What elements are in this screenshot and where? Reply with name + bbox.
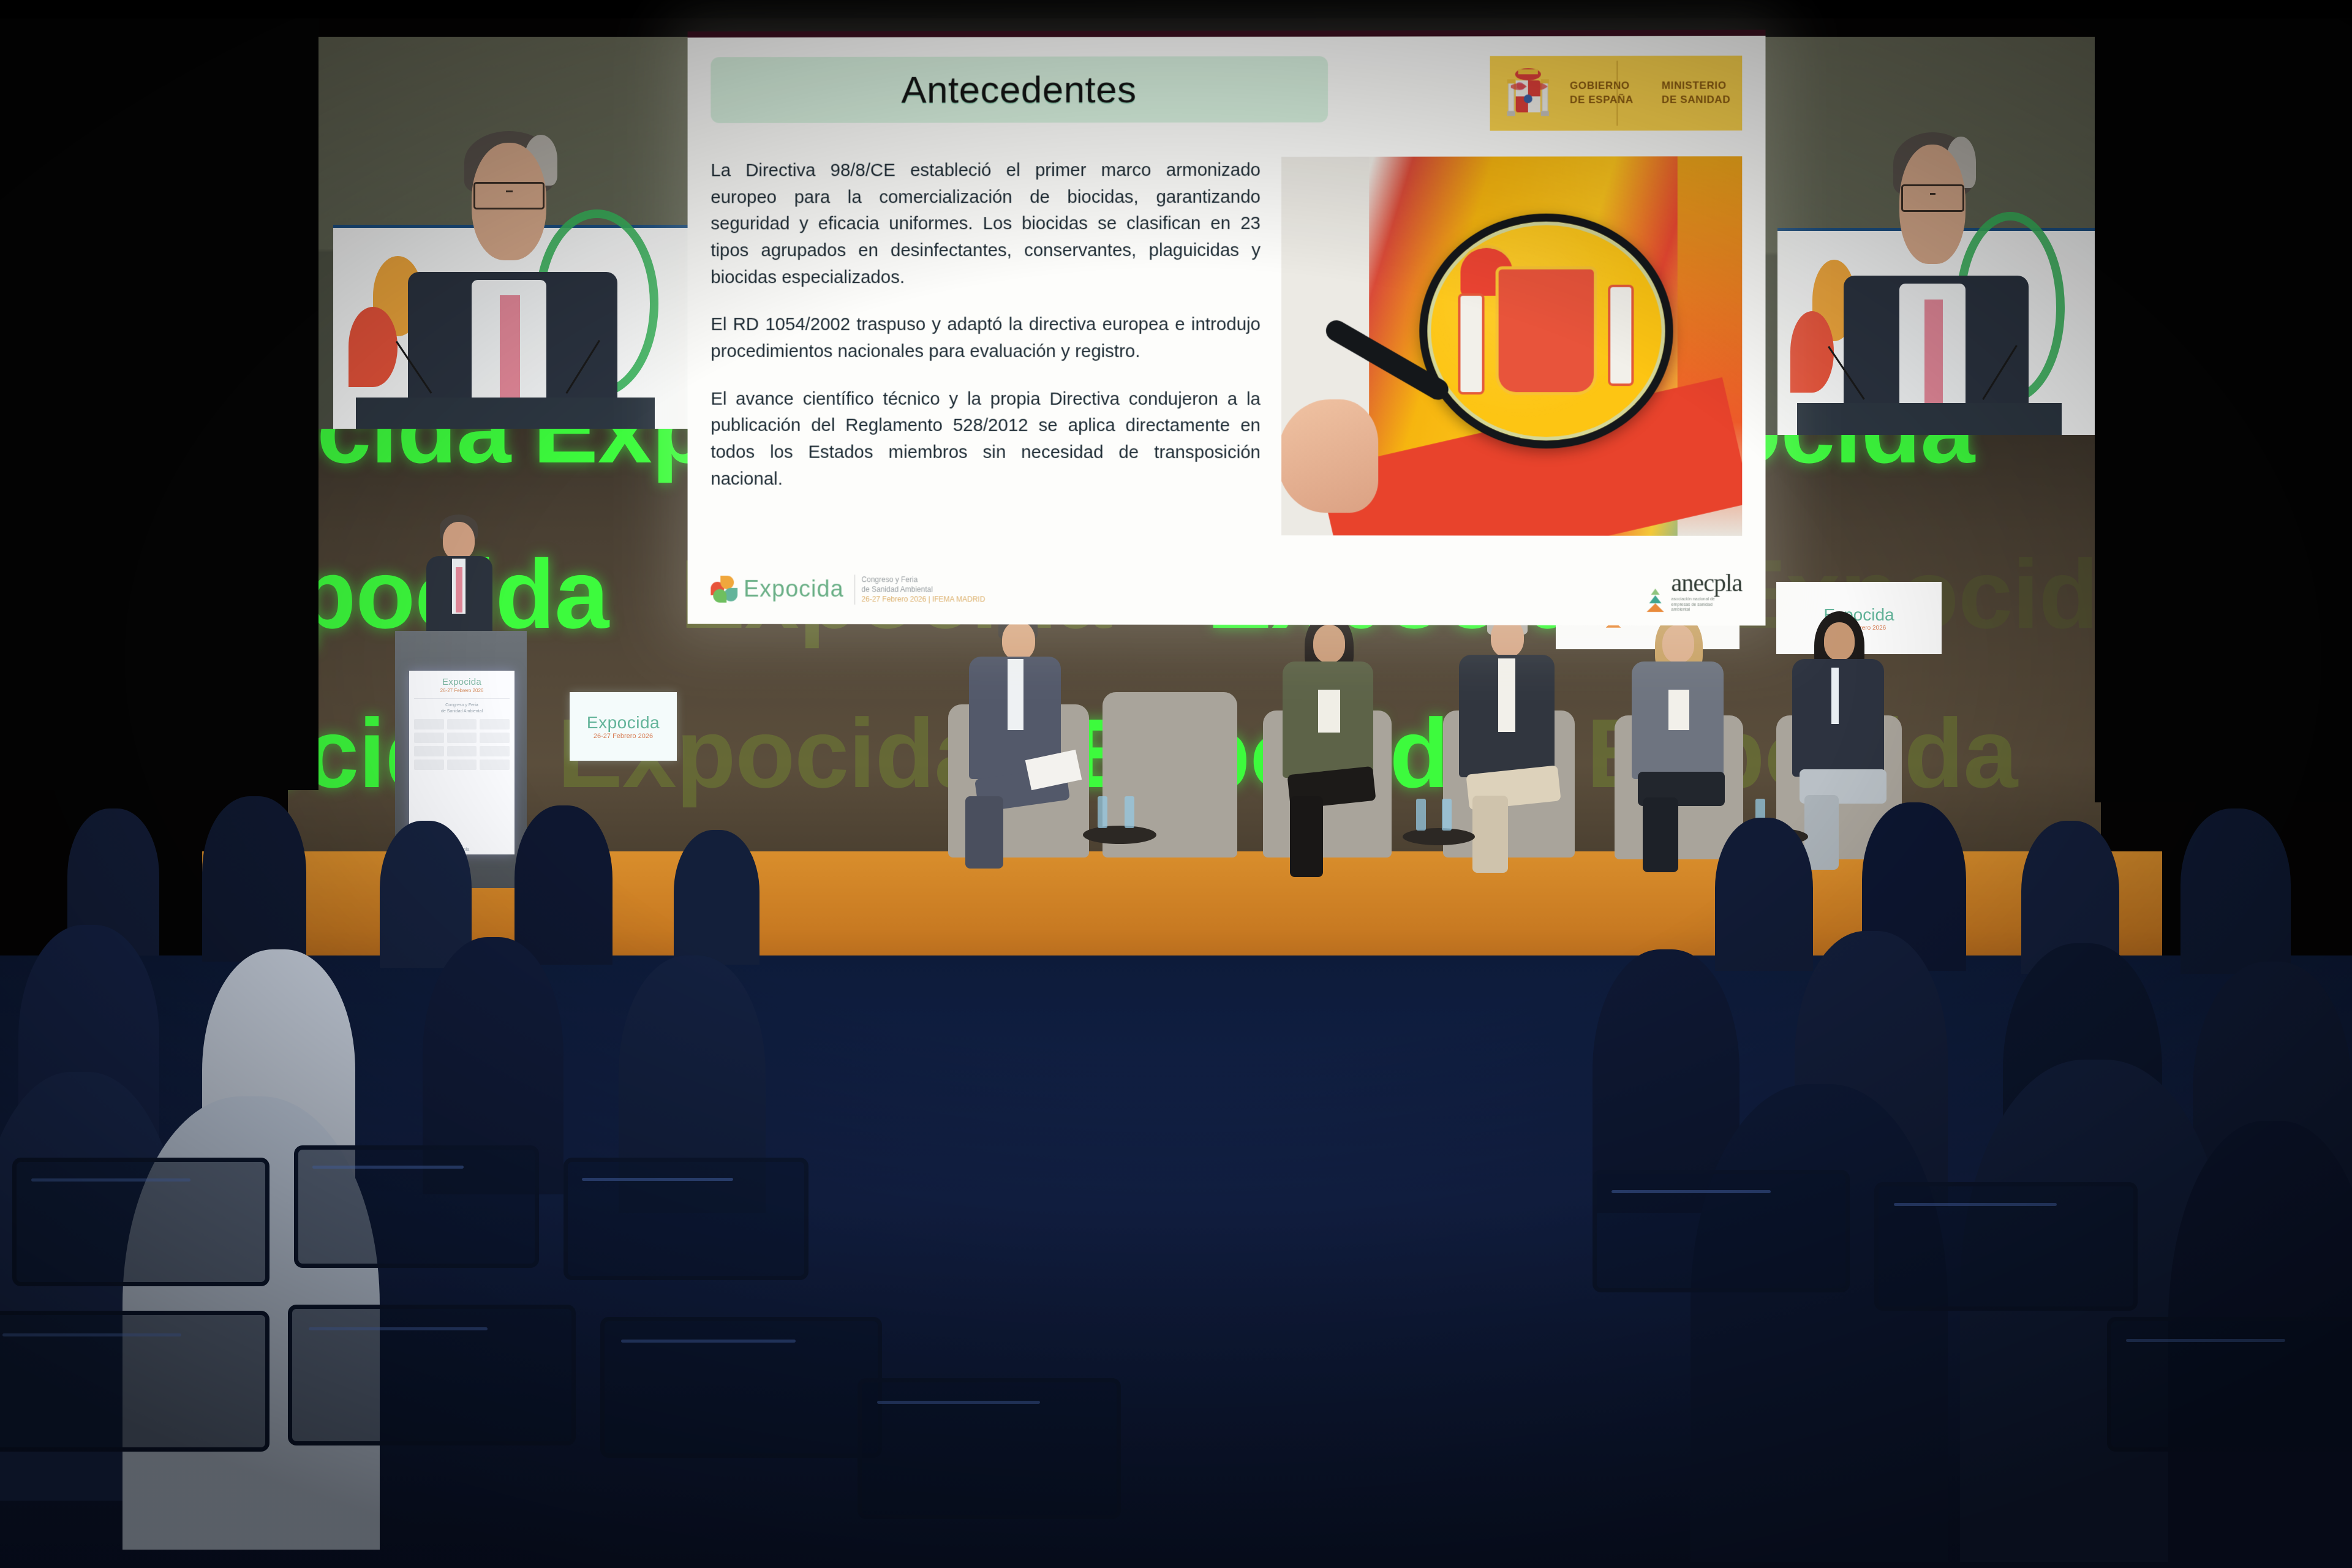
slide-body: La Directiva 98/8/CE estableció el prime… — [710, 156, 1742, 536]
speaker-camera-feed — [318, 37, 692, 429]
gobierno-de-espana-logo: GOBIERNO DE ESPAÑA MINISTERIO DE SANIDAD — [1490, 56, 1743, 131]
audience-member — [514, 805, 612, 965]
slide-header: Antecedentes — [710, 56, 1742, 132]
audience-area — [0, 692, 2352, 1568]
audience-chair[interactable] — [294, 1145, 539, 1268]
audience-chair[interactable] — [858, 1378, 1121, 1519]
side-screen-left — [318, 37, 692, 429]
anecpla-subtitle: asociación nacional de empresas de sanid… — [1672, 597, 1743, 613]
page-title: Antecedentes — [901, 68, 1136, 111]
expocida-swirl-icon — [710, 576, 737, 603]
audience-member — [380, 821, 472, 968]
gov-logo-text-right: MINISTERIO DE SANIDAD — [1662, 79, 1730, 107]
slide-text-column: La Directiva 98/8/CE estableció el prime… — [710, 157, 1261, 535]
audience-member — [2180, 809, 2291, 974]
slide-paragraph: La Directiva 98/8/CE estableció el prime… — [710, 157, 1261, 291]
audience-chair[interactable] — [288, 1305, 576, 1445]
slide-paragraph: El avance científico técnico y la propia… — [710, 385, 1261, 492]
audience-chair[interactable] — [1593, 1170, 1850, 1292]
slide-footer: Expocida Congreso y Feria de Sanidad Amb… — [710, 567, 1742, 614]
spanish-flag-magnifier-photo — [1281, 156, 1742, 536]
spain-coat-of-arms-icon — [1502, 64, 1554, 122]
audience-member — [1715, 818, 1813, 971]
gov-logo-text-left: GOBIERNO DE ESPAÑA — [1570, 79, 1634, 107]
audience-chair[interactable] — [12, 1158, 269, 1286]
expocida-tagline: Congreso y Feria de Sanidad Ambiental 26… — [855, 575, 986, 605]
conference-scene: Expocida Expocida Expocida Expocida Expo… — [0, 0, 2352, 1568]
speaker-camera-feed — [1764, 37, 2095, 435]
anecpla-tree-icon — [1645, 587, 1665, 613]
audience-chair[interactable] — [0, 1311, 269, 1452]
magnifying-glass-icon — [1419, 213, 1673, 448]
audience-member — [674, 830, 759, 965]
slide-paragraph: El RD 1054/2002 traspuso y adaptó la dir… — [710, 311, 1261, 364]
audience-chair[interactable] — [1874, 1182, 2138, 1311]
audience-chair[interactable] — [600, 1317, 882, 1458]
side-screen-right — [1764, 37, 2095, 435]
anecpla-logo: anecpla asociación nacional de empresas … — [1645, 568, 1742, 614]
auditorium-wall-left — [0, 0, 318, 790]
auditorium-wall-right — [2095, 0, 2352, 802]
ceiling-shadow — [0, 0, 2352, 18]
audience-member — [1691, 1084, 1948, 1562]
screen-top-edge — [688, 30, 1766, 38]
expocida-wordmark: Expocida — [744, 576, 844, 603]
audience-chair[interactable] — [563, 1158, 809, 1280]
slide-title-box: Antecedentes — [710, 56, 1328, 123]
anecpla-wordmark: anecpla — [1672, 568, 1743, 597]
podium-speaker — [423, 514, 496, 637]
audience-chair[interactable] — [2107, 1317, 2352, 1452]
expocida-wordmark: Expocida — [414, 677, 510, 687]
projection-slide: Antecedentes — [688, 36, 1766, 626]
audience-member — [202, 796, 306, 962]
expocida-logo: Expocida Congreso y Feria de Sanidad Amb… — [710, 575, 985, 605]
